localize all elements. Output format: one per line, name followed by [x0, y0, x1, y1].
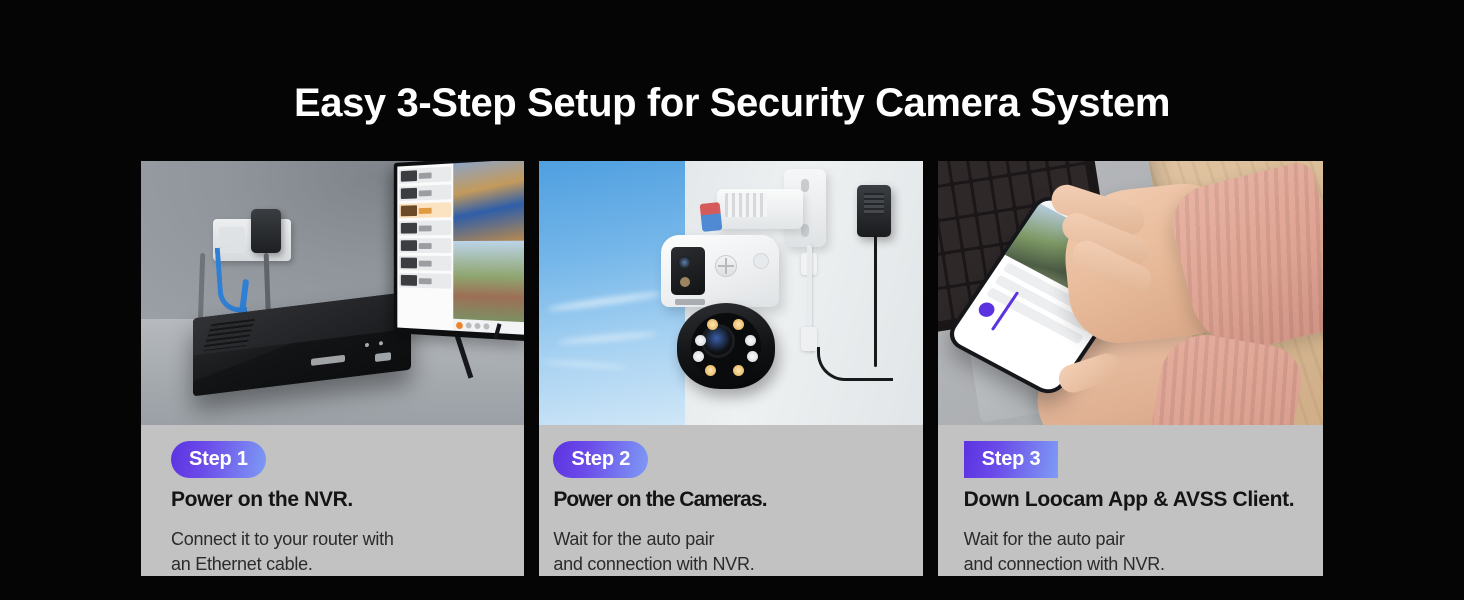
- step-2-description: Wait for the auto pair and connection wi…: [553, 527, 922, 576]
- step-3-badge: Step 3: [964, 441, 1059, 478]
- step-3-body: Step 3 Down Loocam App & AVSS Client. Wa…: [938, 425, 1323, 576]
- key: [963, 249, 984, 282]
- secondary-lens-module: [671, 247, 705, 295]
- step-card-1: Step 1 Power on the NVR. Connect it to y…: [141, 161, 524, 576]
- step-1-body: Step 1 Power on the NVR. Connect it to y…: [141, 425, 524, 576]
- nvr-led-2: [379, 341, 383, 345]
- step-1-photo: [141, 161, 524, 425]
- key: [953, 183, 974, 216]
- step-2-photo: [539, 161, 922, 425]
- step-3-heading: Down Loocam App & AVSS Client.: [964, 487, 1323, 513]
- camera-list-sidebar: [398, 163, 454, 330]
- key: [939, 219, 960, 252]
- step-2-badge: Step 2: [553, 441, 648, 478]
- feed-house: [454, 241, 525, 323]
- tv-screen: [398, 161, 525, 335]
- video-feeds: [454, 161, 525, 335]
- toolbar-icon: [484, 323, 490, 329]
- key: [938, 186, 955, 219]
- key: [1044, 161, 1065, 167]
- key: [1011, 174, 1032, 207]
- key: [972, 180, 993, 213]
- step-1-heading: Power on the NVR.: [171, 487, 524, 513]
- cable-connector-bottom: [801, 327, 817, 351]
- key: [938, 289, 952, 322]
- camera-arm-vents: [725, 193, 767, 217]
- phone-avatar-icon: [975, 300, 997, 320]
- camera-list-item: [399, 273, 451, 289]
- power-adapter-plug: [857, 185, 891, 237]
- television: [394, 161, 524, 341]
- camera-dome: [677, 303, 775, 389]
- feed-warehouse: [454, 161, 525, 241]
- key: [977, 213, 998, 246]
- record-icon: [457, 321, 464, 328]
- camera-list-item: [399, 184, 451, 201]
- page-title: Easy 3-Step Setup for Security Camera Sy…: [0, 78, 1464, 128]
- key: [1005, 161, 1026, 173]
- key: [967, 161, 988, 179]
- key: [991, 177, 1012, 210]
- feed-toolbar: [454, 319, 525, 335]
- black-power-cable-loop: [817, 347, 893, 381]
- key: [1063, 161, 1084, 164]
- antenna: [700, 202, 723, 232]
- step-1-badge: Step 1: [171, 441, 266, 478]
- toolbar-icon: [475, 323, 481, 329]
- power-adapter: [251, 209, 281, 253]
- promo-banner: Easy 3-Step Setup for Security Camera Sy…: [0, 0, 1464, 600]
- camera-brand-logo: [675, 299, 705, 305]
- step-3-photo: [938, 161, 1323, 425]
- key: [948, 161, 969, 182]
- nvr-brand-logo: [311, 355, 345, 366]
- step-card-2: Step 2 Power on the Cameras. Wait for th…: [539, 161, 922, 576]
- step-2-heading: Power on the Cameras.: [553, 487, 922, 513]
- camera-list-item: [399, 220, 451, 235]
- key: [986, 161, 1007, 176]
- step-1-description: Connect it to your router with an Ethern…: [171, 527, 524, 576]
- key: [944, 252, 965, 285]
- nvr-led-1: [365, 343, 369, 347]
- toolbar-icon: [466, 322, 472, 328]
- step-card-3: Step 3 Down Loocam App & AVSS Client. Wa…: [938, 161, 1323, 576]
- steps-row: Step 1 Power on the NVR. Connect it to y…: [141, 161, 1323, 576]
- key: [958, 216, 979, 249]
- step-3-description: Wait for the auto pair and connection wi…: [964, 527, 1323, 576]
- camera-list-item: [399, 238, 451, 253]
- nvr-usb-port: [375, 352, 391, 362]
- camera-list-item: [399, 166, 451, 183]
- key: [1025, 161, 1046, 170]
- step-2-body: Step 2 Power on the Cameras. Wait for th…: [539, 425, 922, 576]
- camera-list-item-active: [399, 202, 451, 218]
- camera-list-item: [399, 256, 451, 271]
- key: [938, 161, 950, 185]
